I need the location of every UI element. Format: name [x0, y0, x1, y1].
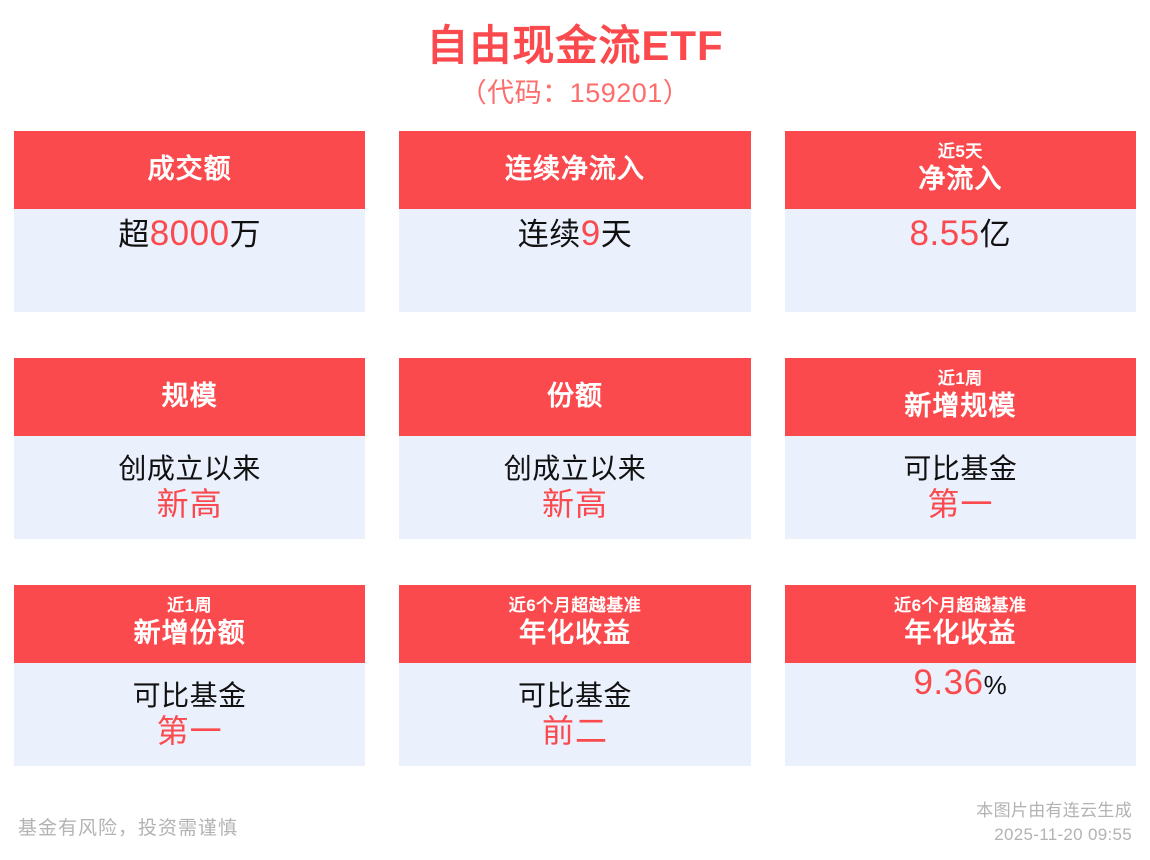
metric-card-body: 可比基金第一: [14, 663, 365, 766]
risk-disclaimer: 基金有风险，投资需谨慎: [18, 813, 238, 846]
metric-card-header: 份额: [399, 358, 750, 436]
metric-card: 份额创成立以来新高: [399, 358, 750, 539]
metric-card-body: 创成立以来新高: [399, 436, 750, 539]
metric-value-unit: 万: [230, 209, 262, 254]
metric-value-context: 可比基金: [133, 678, 247, 713]
metric-value-context: 可比基金: [903, 451, 1017, 486]
etf-info-poster: 自由现金流ETF （代码：159201） 成交额超8000万连续净流入连续9天近…: [0, 0, 1150, 860]
poster-header: 自由现金流ETF （代码：159201）: [0, 0, 1150, 111]
metric-card-title: 净流入: [918, 163, 1002, 196]
generation-credit: 本图片由有连云生成 2025-11-20 09:55: [976, 799, 1132, 846]
metric-card: 规模创成立以来新高: [14, 358, 365, 539]
poster-footer: 基金有风险，投资需谨慎 本图片由有连云生成 2025-11-20 09:55: [0, 799, 1150, 846]
metric-card: 近1周新增规模可比基金第一: [785, 358, 1136, 539]
metric-card-header: 近6个月超越基准年化收益: [785, 585, 1136, 663]
page-title: 自由现金流ETF: [0, 20, 1150, 71]
metric-value-prefix: 连续: [518, 209, 581, 254]
metric-card: 连续净流入连续9天: [399, 131, 750, 312]
metric-card: 近5天净流入8.55亿: [785, 131, 1136, 312]
metric-card-header: 近1周新增规模: [785, 358, 1136, 436]
metric-card-header: 近6个月超越基准年化收益: [399, 585, 750, 663]
metric-card: 成交额超8000万: [14, 131, 365, 312]
metric-card: 近6个月超越基准年化收益可比基金前二: [399, 585, 750, 766]
metric-card-body: 9.36%: [785, 663, 1136, 766]
metric-value-number: 9.36: [913, 663, 983, 703]
metric-card-body: 可比基金第一: [785, 436, 1136, 539]
metric-card-period-label: 近5天: [938, 142, 983, 162]
metric-value-context: 创成立以来: [118, 451, 261, 486]
metric-card-header: 规模: [14, 358, 365, 436]
metric-value-highlight: 新高: [157, 485, 223, 523]
metric-value-context: 可比基金: [518, 678, 632, 713]
metric-value-highlight: 前二: [542, 712, 608, 750]
metric-card: 近1周新增份额可比基金第一: [14, 585, 365, 766]
metric-value-highlight: 新高: [542, 485, 608, 523]
metric-card-period-label: 近1周: [167, 596, 212, 616]
fund-code-subtitle: （代码：159201）: [0, 77, 1150, 111]
metric-card-body: 可比基金前二: [399, 663, 750, 766]
metric-card-title: 规模: [162, 380, 218, 413]
metric-card-title: 年化收益: [904, 617, 1016, 650]
metric-value-number: 8000: [150, 214, 230, 254]
metric-card-title: 份额: [547, 380, 603, 413]
metric-value-highlight: 第一: [157, 712, 223, 750]
metric-value-number: 8.55: [910, 214, 980, 254]
metric-card-period-label: 近1周: [938, 369, 983, 389]
metric-value-unit: %: [984, 670, 1008, 701]
metric-card-body: 创成立以来新高: [14, 436, 365, 539]
metric-value-prefix: 超: [118, 209, 150, 254]
metric-card-title: 新增份额: [134, 617, 246, 650]
metric-card-title: 连续净流入: [505, 153, 645, 186]
metric-value-number: 9: [581, 214, 601, 254]
metric-card-header: 近5天净流入: [785, 131, 1136, 209]
metric-card-grid: 成交额超8000万连续净流入连续9天近5天净流入8.55亿规模创成立以来新高份额…: [0, 131, 1150, 766]
metric-value-highlight: 第一: [927, 485, 993, 523]
credit-timestamp: 2025-11-20 09:55: [976, 823, 1132, 846]
metric-value-unit: 天: [601, 209, 633, 254]
metric-card: 近6个月超越基准年化收益9.36%: [785, 585, 1136, 766]
metric-card-body: 超8000万: [14, 209, 365, 312]
metric-card-body: 8.55亿: [785, 209, 1136, 312]
metric-card-header: 近1周新增份额: [14, 585, 365, 663]
metric-card-title: 年化收益: [519, 617, 631, 650]
metric-card-header: 成交额: [14, 131, 365, 209]
metric-card-body: 连续9天: [399, 209, 750, 312]
metric-value-unit: 亿: [980, 209, 1012, 254]
metric-card-header: 连续净流入: [399, 131, 750, 209]
metric-card-period-label: 近6个月超越基准: [509, 596, 641, 616]
credit-source: 本图片由有连云生成: [976, 799, 1132, 822]
metric-card-title: 成交额: [148, 153, 232, 186]
metric-value-context: 创成立以来: [504, 451, 647, 486]
metric-card-period-label: 近6个月超越基准: [894, 596, 1026, 616]
metric-card-title: 新增规模: [904, 390, 1016, 423]
